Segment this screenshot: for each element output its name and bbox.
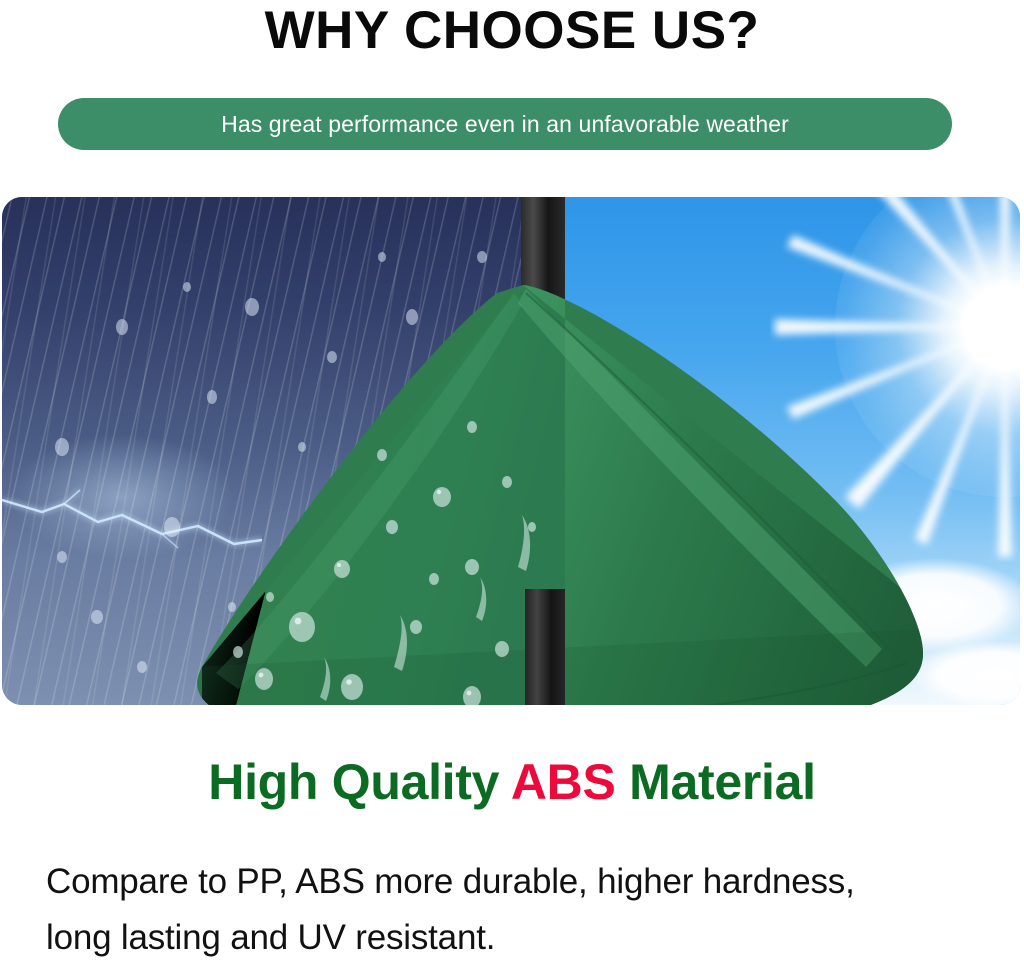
material-heading-part1: High Quality (208, 754, 511, 810)
description-line-1: Compare to PP, ABS more durable, higher … (46, 854, 1006, 910)
lightning-bolt-icon (2, 482, 262, 572)
feature-banner-text: Has great performance even in an unfavor… (221, 111, 789, 137)
storm-scene (2, 197, 565, 705)
feature-banner: Has great performance even in an unfavor… (58, 98, 952, 150)
description-line-2: long lasting and UV resistant. (46, 910, 1006, 966)
material-heading: High Quality ABS Material (0, 752, 1024, 812)
product-photo (2, 197, 1020, 705)
material-heading-part2: Material (616, 754, 816, 810)
sunny-scene (565, 197, 1020, 705)
material-heading-highlight: ABS (511, 754, 616, 810)
pole-upper (521, 197, 565, 317)
clouds (565, 485, 1020, 705)
description-text: Compare to PP, ABS more durable, higher … (46, 854, 1006, 966)
page-title: WHY CHOOSE US? (0, 0, 1024, 62)
pole-lower (525, 589, 565, 705)
